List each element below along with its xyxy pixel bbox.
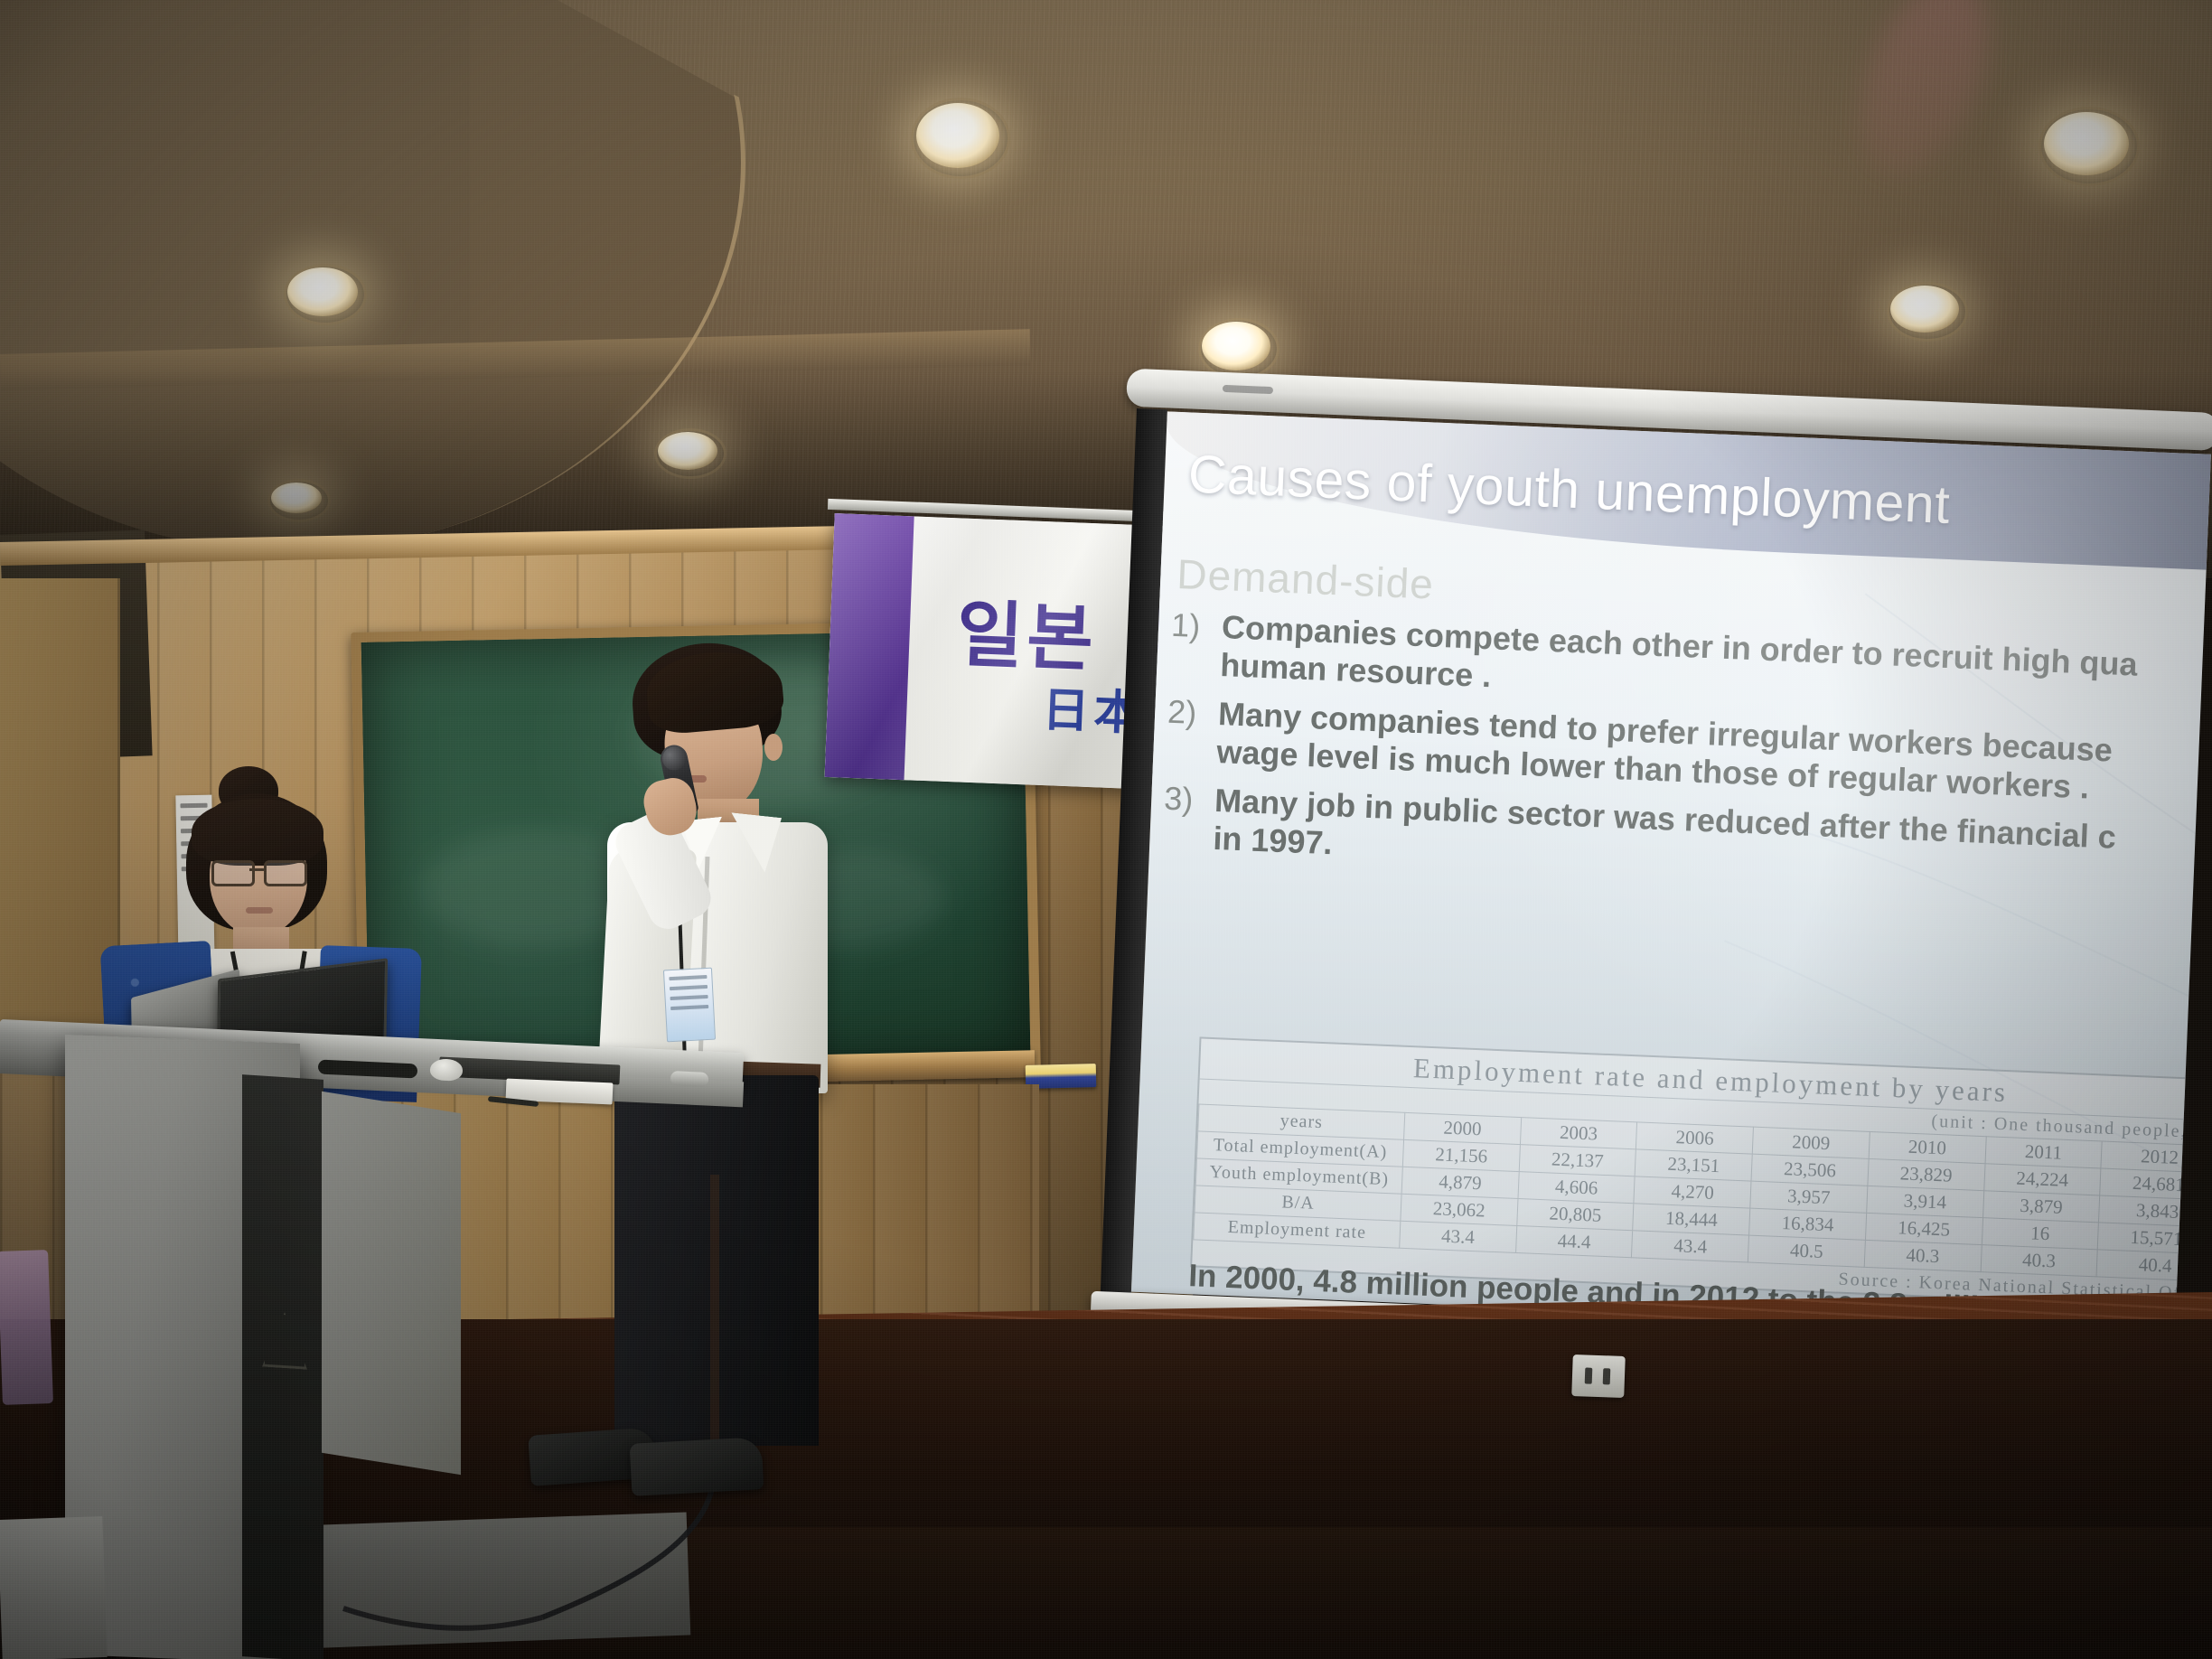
badge-line [670,985,708,990]
presenter-leg-separation [710,1175,719,1473]
table-cell: 40.3 [1864,1240,1982,1271]
ceiling-light-1 [287,267,358,316]
bullet-number: 2) [1167,696,1219,730]
operator-glasses [211,860,307,882]
wall-power-outlet[interactable] [1571,1354,1626,1398]
poster-line [181,803,208,809]
slide-section-heading: Demand-side [1176,549,1435,609]
computer-mouse[interactable] [430,1058,464,1081]
ceiling-light-2 [916,103,999,168]
table-cell: 43.4 [1632,1231,1749,1262]
presenter-shoe-right [630,1437,764,1496]
podium-side-panel [322,1092,461,1475]
glasses-bridge [249,868,266,871]
table-cell: 43.4 [1400,1221,1517,1252]
ceiling-light-5 [1202,322,1270,370]
table-cell: 40.4 [2096,1250,2211,1281]
podium-control-knob[interactable] [670,1071,709,1087]
bullet-number: 3) [1164,783,1215,817]
presenter-name-badge [663,968,716,1043]
operator-mouth [246,907,273,914]
ceiling-light-6 [2044,112,2129,175]
glasses-lens-left [211,860,255,886]
badge-line [670,995,708,1000]
operator-fringe [192,799,323,866]
presenter-ear [764,734,783,761]
projection-screen: Causes of youth unemployment Demand-side… [1100,408,2211,1346]
table-cell: 40.3 [1981,1245,2098,1277]
podium-logo-panel [242,1074,323,1659]
bag [0,1250,53,1405]
badge-line [669,975,707,980]
lecture-hall-photo: 일본 츄오 日本 中 Causes of youth unemployment … [0,0,2212,1659]
badge-line [670,1005,708,1010]
presentation-slide: Causes of youth unemployment Demand-side… [1131,411,2211,1335]
glasses-lens-right [264,860,307,886]
bullet-number: 1) [1170,609,1222,643]
table-cell: 44.4 [1515,1226,1633,1258]
table-cell: 40.5 [1748,1235,1865,1267]
floor-console-box [0,1516,108,1659]
ceiling-light-7 [1890,286,1959,333]
slide-bullet-list: 1) Companies compete each other in order… [1161,609,2211,914]
screen-canvas: Causes of youth unemployment Demand-side… [1131,411,2211,1335]
